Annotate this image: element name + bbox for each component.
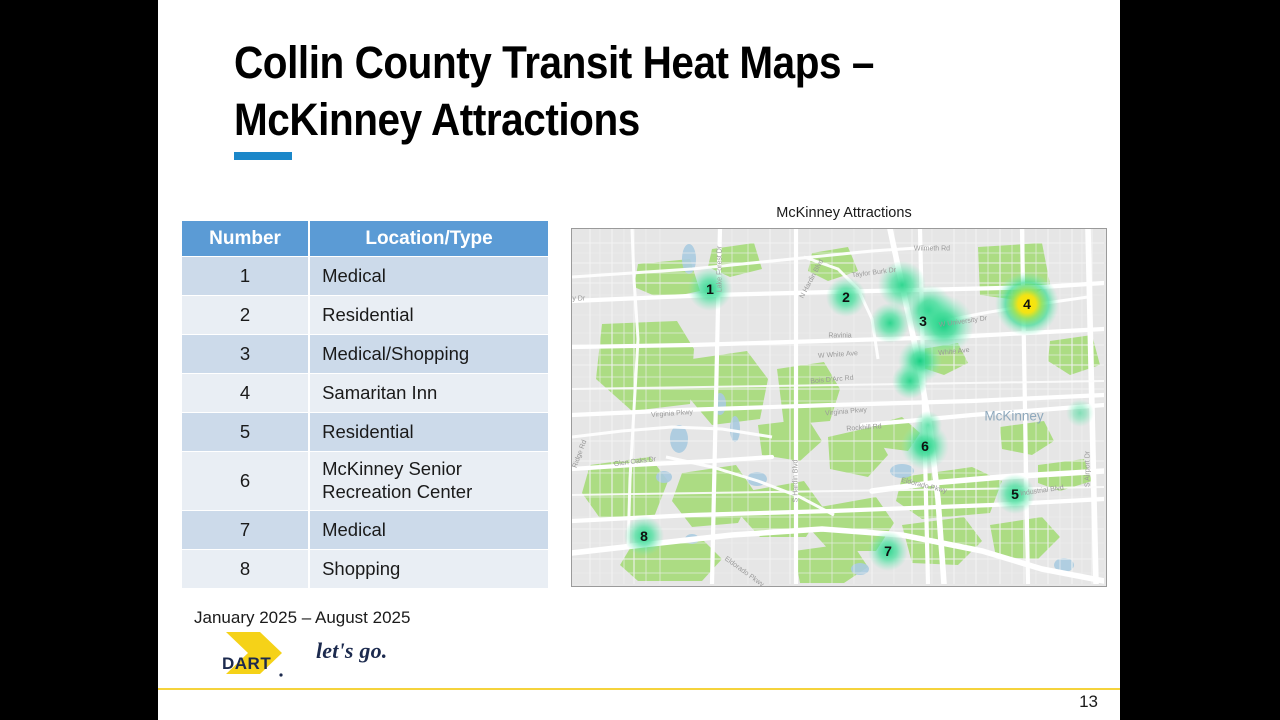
dart-tagline: let's go. (316, 638, 387, 664)
locations-table: Number Location/Type 1 Medical 2 Residen… (182, 220, 548, 589)
cell-number: 7 (182, 511, 310, 549)
slide-viewer: Collin County Transit Heat Maps – McKinn… (0, 0, 1280, 720)
map-street-label: S Airport Dr (1085, 451, 1092, 487)
page-number: 13 (1079, 692, 1098, 712)
table-row: 8 Shopping (182, 550, 548, 588)
heat-map[interactable]: Wilmeth RdLake Forest DrN Hardin BlvdTay… (571, 228, 1107, 587)
table-row: 7 Medical (182, 511, 548, 549)
cell-number: 1 (182, 257, 310, 295)
title-accent-rule (234, 152, 292, 160)
table-row: 2 Residential (182, 296, 548, 334)
map-street-label: S Hardin Blvd (793, 460, 800, 503)
table-row: 5 Residential (182, 413, 548, 451)
cell-location-type: McKinney Senior Recreation Center (310, 452, 548, 510)
cell-location-type: Residential (310, 413, 548, 451)
table-row: 1 Medical (182, 257, 548, 295)
map-street-label: Lake Forest Dr (717, 246, 724, 292)
cell-location-type: Medical (310, 511, 548, 549)
column-header-location-type: Location/Type (310, 221, 548, 256)
presentation-slide: Collin County Transit Heat Maps – McKinn… (158, 0, 1120, 720)
cell-location-type: Shopping (310, 550, 548, 588)
date-range-caption: January 2025 – August 2025 (194, 608, 410, 628)
table-header-row: Number Location/Type (182, 221, 548, 256)
cell-number: 8 (182, 550, 310, 588)
table-row: 4 Samaritan Inn (182, 374, 548, 412)
cell-location-type: Medical (310, 257, 548, 295)
map-street-label: ly Dr (571, 296, 585, 303)
map-canvas (572, 229, 1104, 584)
page-title: Collin County Transit Heat Maps – McKinn… (234, 34, 981, 148)
letterbox-bar-left (0, 0, 158, 720)
cell-number: 6 (182, 452, 310, 510)
cell-number: 4 (182, 374, 310, 412)
table-row: 3 Medical/Shopping (182, 335, 548, 373)
cell-location-type: Medical/Shopping (310, 335, 548, 373)
map-city-label: McKinney (984, 409, 1043, 424)
footer-rule (158, 688, 1120, 690)
table-row: 6 McKinney Senior Recreation Center (182, 452, 548, 510)
cell-number: 5 (182, 413, 310, 451)
column-header-number: Number (182, 221, 310, 256)
cell-location-type: Samaritan Inn (310, 374, 548, 412)
map-street-label: Wilmeth Rd (914, 246, 950, 253)
cell-number: 2 (182, 296, 310, 334)
dart-arrow-icon: DART (208, 630, 318, 680)
cell-location-type: Residential (310, 296, 548, 334)
cell-number: 3 (182, 335, 310, 373)
letterbox-bar-right (1120, 0, 1280, 720)
dart-logo: DART let's go. (208, 630, 398, 680)
svg-text:DART: DART (222, 654, 271, 673)
map-title: McKinney Attractions (570, 205, 1118, 221)
map-street-label: Ravinia (828, 333, 851, 340)
